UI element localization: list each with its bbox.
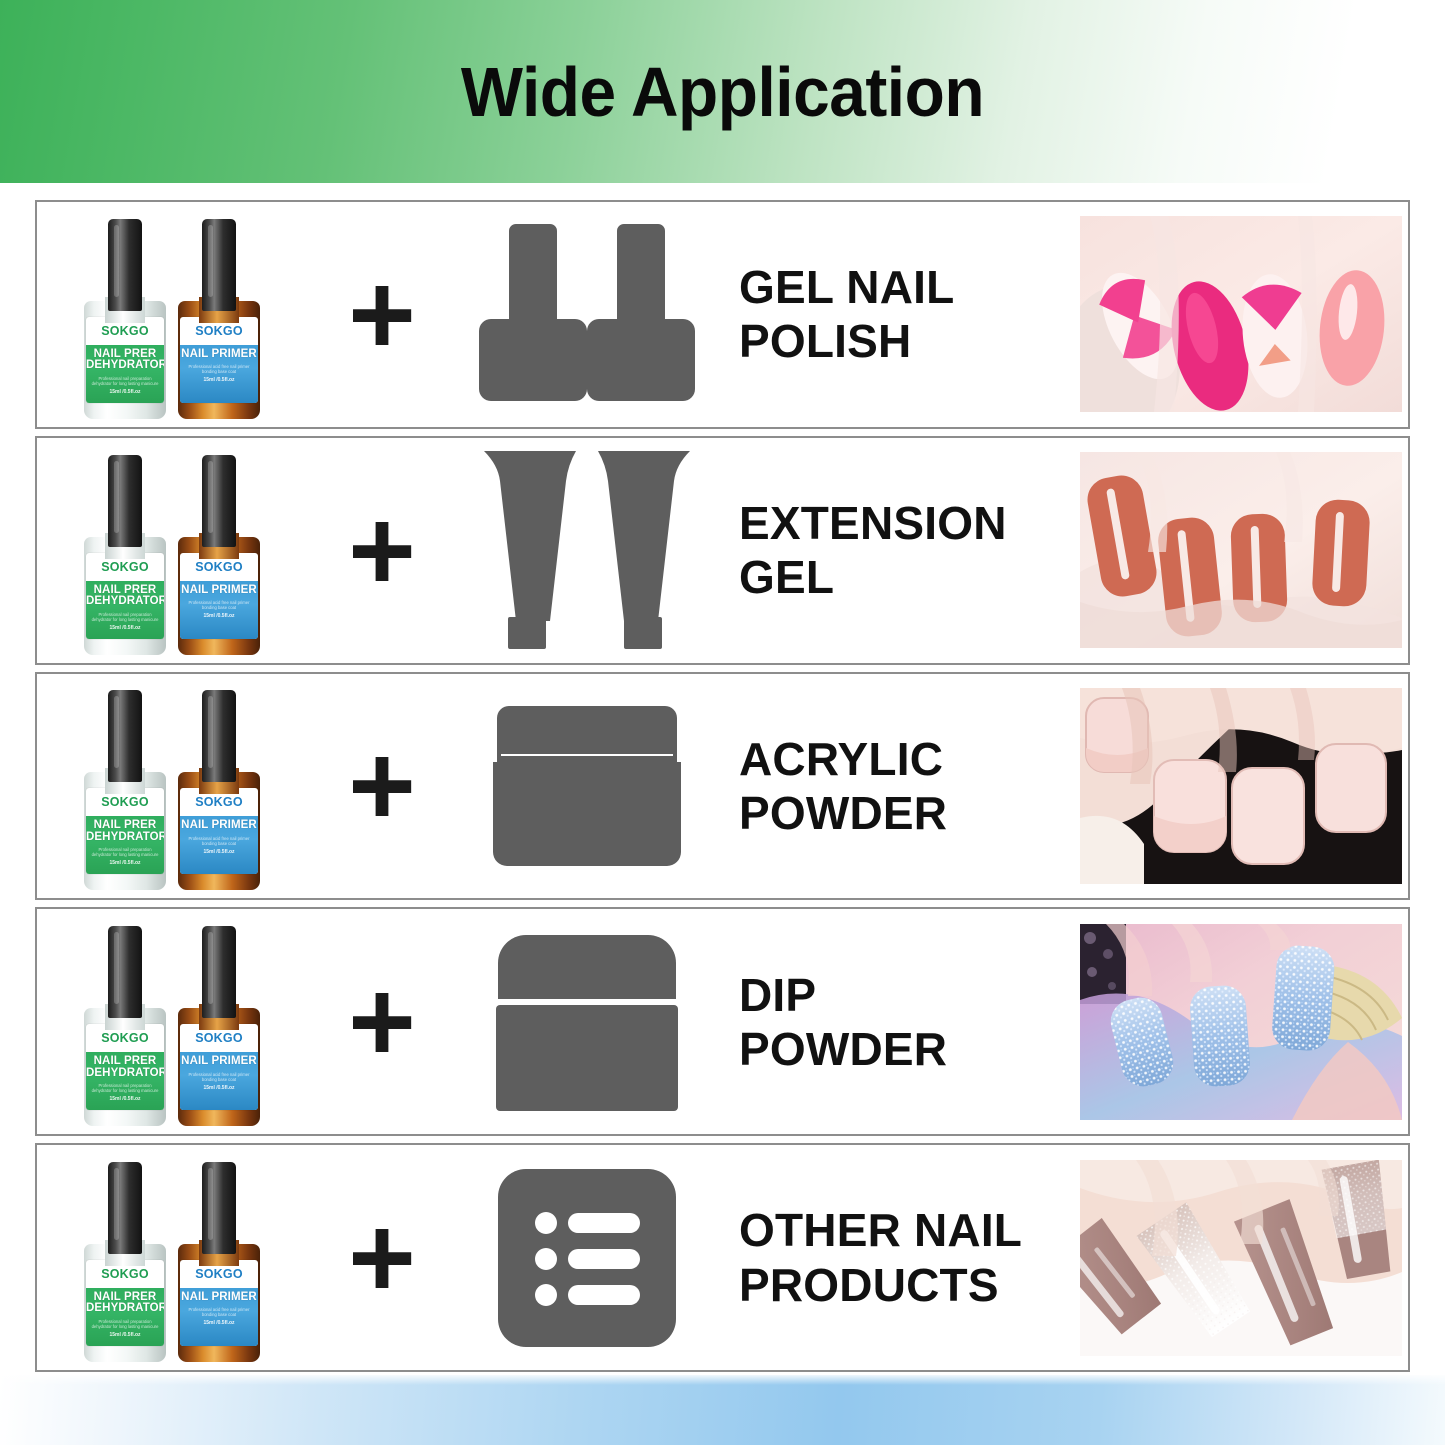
bottle-cap: [108, 455, 142, 547]
bottle-label: SOKGO NAIL PRIMER Professional acid free…: [180, 788, 258, 874]
row-label-line2: POWDER: [739, 786, 1070, 840]
extension-gel-tubes-icon: [457, 438, 717, 663]
label-volume: 15ml /0.5fl.oz: [86, 625, 164, 631]
label-fine-print: Professional acid free nail primer bondi…: [180, 836, 258, 846]
bottle-cap: [108, 1162, 142, 1254]
plus-symbol: +: [307, 1217, 457, 1298]
product-bottles-group: SOKGO NAIL PRER DEHYDRATOR Professional …: [37, 202, 307, 427]
dip-powder-jar-icon: [457, 909, 717, 1134]
plus-symbol: +: [307, 745, 457, 826]
bottle-cap: [202, 219, 236, 311]
row-label: ACRYLIC POWDER: [717, 732, 1080, 841]
row-label-line2: PRODUCTS: [739, 1258, 1070, 1312]
bottle-label: SOKGO NAIL PRIMER Professional acid free…: [180, 553, 258, 639]
label-band: NAIL PRIMER Professional acid free nail …: [180, 345, 258, 403]
other-products-list-icon: [457, 1145, 717, 1370]
primer-bottle: SOKGO NAIL PRIMER Professional acid free…: [178, 219, 260, 419]
label-fine-print: Professional nail preparation dehydrator…: [86, 376, 164, 386]
bottle-label: SOKGO NAIL PRER DEHYDRATOR Professional …: [86, 788, 164, 874]
bottle-label: SOKGO NAIL PRIMER Professional acid free…: [180, 317, 258, 403]
product-name-line2: DEHYDRATOR: [86, 596, 164, 608]
blue-glitter-nails-photo: [1080, 924, 1402, 1120]
primer-bottle: SOKGO NAIL PRIMER Professional acid free…: [178, 455, 260, 655]
label-volume: 15ml /0.5fl.oz: [86, 1096, 164, 1102]
row-label-line1: EXTENSION: [739, 497, 1007, 549]
product-name-line2: DEHYDRATOR: [86, 1068, 164, 1080]
application-row: SOKGO NAIL PRER DEHYDRATOR Professional …: [35, 672, 1410, 901]
row-label: EXTENSION GEL: [717, 496, 1080, 605]
label-volume: 15ml /0.5fl.oz: [86, 860, 164, 866]
row-label: GEL NAIL POLISH: [717, 260, 1080, 369]
acrylic-powder-jar-icon: [457, 674, 717, 899]
product-name-line1: NAIL PRIMER: [180, 349, 258, 361]
label-volume: 15ml /0.5fl.oz: [180, 377, 258, 383]
bottle-label: SOKGO NAIL PRIMER Professional acid free…: [180, 1260, 258, 1346]
label-band: NAIL PRER DEHYDRATOR Professional nail p…: [86, 345, 164, 403]
coral-long-square-nails-photo: [1080, 452, 1402, 648]
dehydrator-bottle: SOKGO NAIL PRER DEHYDRATOR Professional …: [84, 219, 166, 419]
primer-bottle: SOKGO NAIL PRIMER Professional acid free…: [178, 1162, 260, 1362]
product-name-line2: DEHYDRATOR: [86, 360, 164, 372]
bottle-cap: [108, 926, 142, 1018]
gel-polish-bottles-icon: [457, 202, 717, 427]
label-band: NAIL PRIMER Professional acid free nail …: [180, 581, 258, 639]
label-band: NAIL PRER DEHYDRATOR Professional nail p…: [86, 1288, 164, 1346]
label-fine-print: Professional nail preparation dehydrator…: [86, 1083, 164, 1093]
row-label-line1: ACRYLIC: [739, 733, 943, 785]
plus-symbol: +: [307, 510, 457, 591]
bottle-cap: [108, 219, 142, 311]
product-bottles-group: SOKGO NAIL PRER DEHYDRATOR Professional …: [37, 438, 307, 663]
label-volume: 15ml /0.5fl.oz: [180, 613, 258, 619]
plus-symbol: +: [307, 274, 457, 355]
row-label-line2: POLISH: [739, 314, 1070, 368]
label-band: NAIL PRIMER Professional acid free nail …: [180, 1052, 258, 1110]
product-name-line2: DEHYDRATOR: [86, 832, 164, 844]
product-name-line1: NAIL PRER: [86, 1056, 164, 1068]
pink-geometric-almond-nails-photo: [1080, 216, 1402, 412]
row-label-line2: POWDER: [739, 1022, 1070, 1076]
label-band: NAIL PRER DEHYDRATOR Professional nail p…: [86, 581, 164, 639]
label-volume: 15ml /0.5fl.oz: [180, 849, 258, 855]
bottle-label: SOKGO NAIL PRER DEHYDRATOR Professional …: [86, 1024, 164, 1110]
application-row: SOKGO NAIL PRER DEHYDRATOR Professional …: [35, 436, 1410, 665]
label-band: NAIL PRIMER Professional acid free nail …: [180, 1288, 258, 1346]
product-name-line1: NAIL PRIMER: [180, 1056, 258, 1068]
row-label-line1: GEL NAIL: [739, 261, 954, 313]
product-bottles-group: SOKGO NAIL PRER DEHYDRATOR Professional …: [37, 909, 307, 1134]
row-label: OTHER NAIL PRODUCTS: [717, 1203, 1080, 1312]
product-name-line2: DEHYDRATOR: [86, 1303, 164, 1315]
dehydrator-bottle: SOKGO NAIL PRER DEHYDRATOR Professional …: [84, 1162, 166, 1362]
dehydrator-bottle: SOKGO NAIL PRER DEHYDRATOR Professional …: [84, 690, 166, 890]
label-fine-print: Professional nail preparation dehydrator…: [86, 1319, 164, 1329]
bottle-cap: [108, 690, 142, 782]
row-label-line1: OTHER NAIL: [739, 1204, 1022, 1256]
page-title: Wide Application: [43, 52, 1401, 132]
bottle-label: SOKGO NAIL PRIMER Professional acid free…: [180, 1024, 258, 1110]
bottle-cap: [202, 455, 236, 547]
label-volume: 15ml /0.5fl.oz: [86, 389, 164, 395]
primer-bottle: SOKGO NAIL PRIMER Professional acid free…: [178, 690, 260, 890]
product-name-line1: NAIL PRIMER: [180, 585, 258, 597]
bottle-cap: [202, 926, 236, 1018]
dehydrator-bottle: SOKGO NAIL PRER DEHYDRATOR Professional …: [84, 455, 166, 655]
dehydrator-bottle: SOKGO NAIL PRER DEHYDRATOR Professional …: [84, 926, 166, 1126]
application-rows-list: SOKGO NAIL PRER DEHYDRATOR Professional …: [35, 200, 1410, 1372]
application-row: SOKGO NAIL PRER DEHYDRATOR Professional …: [35, 907, 1410, 1136]
label-volume: 15ml /0.5fl.oz: [180, 1085, 258, 1091]
label-band: NAIL PRIMER Professional acid free nail …: [180, 816, 258, 874]
row-label: DIP POWDER: [717, 968, 1080, 1077]
row-label-line2: GEL: [739, 550, 1070, 604]
product-bottles-group: SOKGO NAIL PRER DEHYDRATOR Professional …: [37, 674, 307, 899]
bottle-cap: [202, 1162, 236, 1254]
label-fine-print: Professional acid free nail primer bondi…: [180, 600, 258, 610]
mauve-glitter-coffin-nails-photo: [1080, 1160, 1402, 1356]
label-band: NAIL PRER DEHYDRATOR Professional nail p…: [86, 1052, 164, 1110]
label-fine-print: Professional nail preparation dehydrator…: [86, 612, 164, 622]
row-label-line1: DIP: [739, 969, 816, 1021]
nude-pink-squoval-nails-photo: [1080, 688, 1402, 884]
label-fine-print: Professional nail preparation dehydrator…: [86, 847, 164, 857]
product-name-line1: NAIL PRIMER: [180, 1292, 258, 1304]
label-fine-print: Professional acid free nail primer bondi…: [180, 1307, 258, 1317]
label-volume: 15ml /0.5fl.oz: [86, 1332, 164, 1338]
primer-bottle: SOKGO NAIL PRIMER Professional acid free…: [178, 926, 260, 1126]
product-name-line1: NAIL PRIMER: [180, 820, 258, 832]
product-bottles-group: SOKGO NAIL PRER DEHYDRATOR Professional …: [37, 1145, 307, 1370]
plus-symbol: +: [307, 981, 457, 1062]
label-fine-print: Professional acid free nail primer bondi…: [180, 364, 258, 374]
bottom-gradient-banner: [0, 1375, 1445, 1445]
label-fine-print: Professional acid free nail primer bondi…: [180, 1072, 258, 1082]
label-volume: 15ml /0.5fl.oz: [180, 1320, 258, 1326]
application-row: SOKGO NAIL PRER DEHYDRATOR Professional …: [35, 200, 1410, 429]
bottle-label: SOKGO NAIL PRER DEHYDRATOR Professional …: [86, 553, 164, 639]
application-row: SOKGO NAIL PRER DEHYDRATOR Professional …: [35, 1143, 1410, 1372]
label-band: NAIL PRER DEHYDRATOR Professional nail p…: [86, 816, 164, 874]
bottle-label: SOKGO NAIL PRER DEHYDRATOR Professional …: [86, 1260, 164, 1346]
bottle-label: SOKGO NAIL PRER DEHYDRATOR Professional …: [86, 317, 164, 403]
bottle-cap: [202, 690, 236, 782]
infographic-page: Wide Application SOKGO NAIL PRER DEHYDRA…: [0, 0, 1445, 1445]
